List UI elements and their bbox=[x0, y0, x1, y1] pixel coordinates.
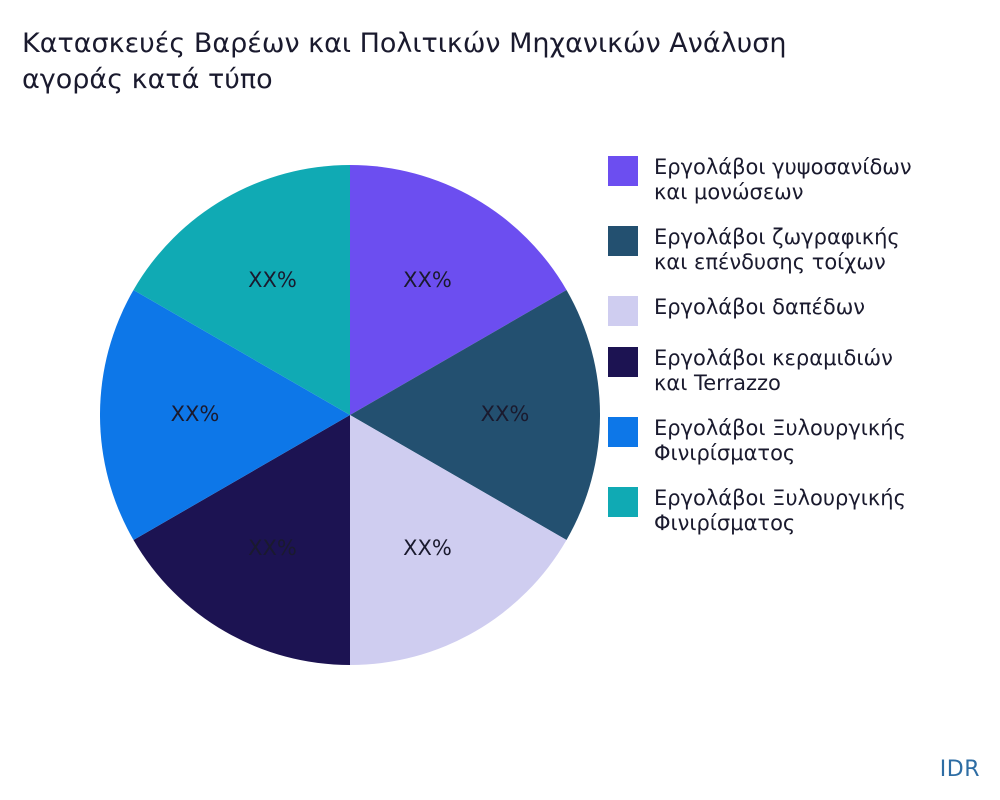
legend-item[interactable]: Εργολάβοι δαπέδων bbox=[608, 295, 1000, 326]
legend-item-label: Εργολάβοι Ξυλουργικής Φινιρίσματος bbox=[654, 416, 1000, 466]
legend-swatch-icon bbox=[608, 156, 638, 186]
pie-slice-label: XX% bbox=[171, 402, 220, 426]
pie-slice-label: XX% bbox=[248, 536, 297, 560]
legend-swatch-icon bbox=[608, 417, 638, 447]
pie-slice-label: XX% bbox=[248, 268, 297, 292]
pie-svg: XX%XX%XX%XX%XX%XX% bbox=[100, 165, 600, 665]
legend-swatch-icon bbox=[608, 226, 638, 256]
legend-item[interactable]: Εργολάβοι Ξυλουργικής Φινιρίσματος bbox=[608, 416, 1000, 466]
legend-item[interactable]: Εργολάβοι γυψοσανίδων και μονώσεων bbox=[608, 155, 1000, 205]
legend-item[interactable]: Εργολάβοι κεραμιδιών και Terrazzo bbox=[608, 346, 1000, 396]
legend-item-label: Εργολάβοι δαπέδων bbox=[654, 295, 1000, 320]
pie-chart: XX%XX%XX%XX%XX%XX% Εργολάβοι γυψοσανίδων… bbox=[0, 140, 1000, 760]
legend-item-label: Εργολάβοι ζωγραφικής και επένδυσης τοίχω… bbox=[654, 225, 1000, 275]
legend-swatch-icon bbox=[608, 347, 638, 377]
pie-slice-label: XX% bbox=[481, 402, 530, 426]
page-title: Κατασκευές Βαρέων και Πολιτικών Μηχανικώ… bbox=[22, 26, 1000, 98]
legend-item[interactable]: Εργολάβοι ζωγραφικής και επένδυσης τοίχω… bbox=[608, 225, 1000, 275]
legend-item-label: Εργολάβοι γυψοσανίδων και μονώσεων bbox=[654, 155, 1000, 205]
legend-item-label: Εργολάβοι κεραμιδιών και Terrazzo bbox=[654, 346, 1000, 396]
legend-swatch-icon bbox=[608, 296, 638, 326]
pie-slice-label: XX% bbox=[403, 268, 452, 292]
legend-item[interactable]: Εργολάβοι Ξυλουργικής Φινιρίσματος bbox=[608, 486, 1000, 536]
pie-slice-label: XX% bbox=[403, 536, 452, 560]
pie-graphic: XX%XX%XX%XX%XX%XX% bbox=[100, 165, 600, 665]
legend-swatch-icon bbox=[608, 487, 638, 517]
watermark: IDR bbox=[940, 757, 980, 782]
legend: Εργολάβοι γυψοσανίδων και μονώσεων Εργολ… bbox=[608, 155, 1000, 556]
legend-item-label: Εργολάβοι Ξυλουργικής Φινιρίσματος bbox=[654, 486, 1000, 536]
